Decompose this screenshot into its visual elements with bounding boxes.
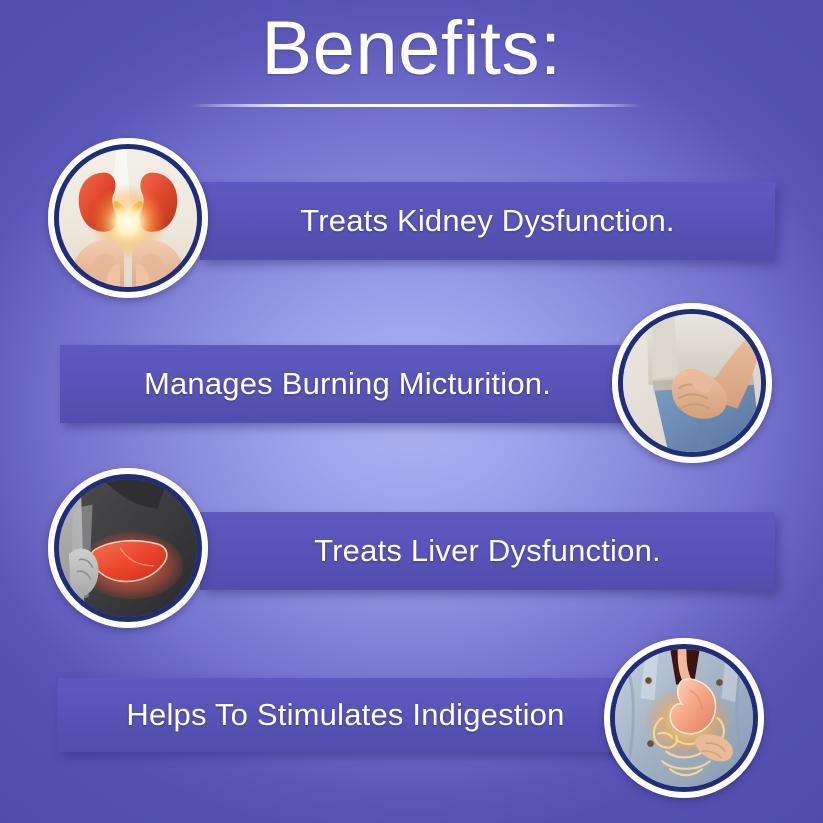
page-title-container: Benefits:	[0, 6, 823, 92]
benefit-bar-3[interactable]: Treats Liver Dysfunction.	[200, 512, 775, 590]
benefit-bar-4[interactable]: Helps To Stimulates Indigestion	[58, 678, 633, 752]
badge-photo-kidneys	[59, 149, 197, 287]
benefit-label-2: Manages Burning Micturition.	[60, 366, 635, 402]
digestive-system-photo	[604, 638, 764, 798]
page-title: Benefits:	[0, 6, 823, 92]
benefits-poster: Benefits: Treats Kidney Dysfunction.	[0, 0, 823, 823]
kidneys-in-hands-photo	[48, 138, 208, 298]
benefit-bar-2[interactable]: Manages Burning Micturition.	[60, 345, 635, 423]
badge-photo-liver	[59, 479, 197, 617]
liver-pain-photo	[48, 468, 208, 628]
badge-photo-urinary	[623, 314, 761, 452]
benefit-label-3: Treats Liver Dysfunction.	[200, 533, 775, 569]
benefit-bar-1[interactable]: Treats Kidney Dysfunction.	[200, 182, 775, 260]
benefit-label-4: Helps To Stimulates Indigestion	[58, 697, 633, 733]
urinary-discomfort-photo	[612, 303, 772, 463]
title-divider	[190, 104, 642, 107]
badge-photo-digestion	[615, 649, 753, 787]
benefit-label-1: Treats Kidney Dysfunction.	[200, 203, 775, 239]
